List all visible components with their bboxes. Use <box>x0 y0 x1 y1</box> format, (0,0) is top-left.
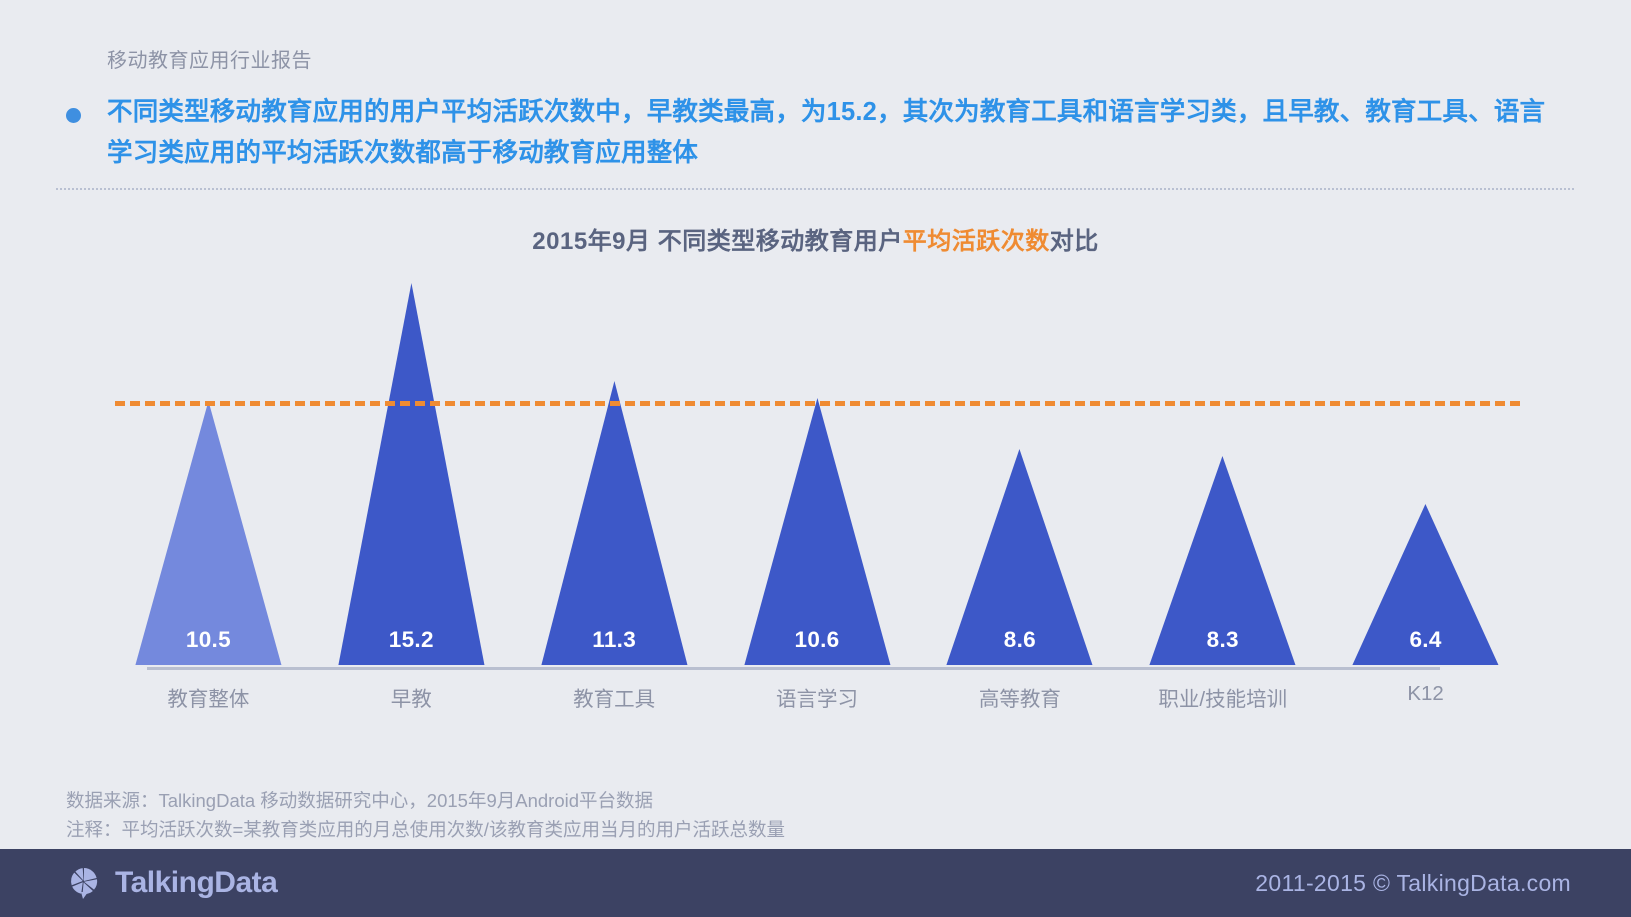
bar-item[interactable]: 8.6 <box>918 250 1121 665</box>
bar-value-label: 8.3 <box>1121 627 1324 653</box>
brand-name: TalkingData <box>115 866 277 900</box>
x-axis-label: 早教 <box>310 682 513 712</box>
headline-block: 不同类型移动教育应用的用户平均活跃次数中，早教类最高，为15.2，其次为教育工具… <box>66 92 1566 175</box>
bar-item[interactable]: 11.3 <box>513 250 716 665</box>
footnotes: 数据来源：TalkingData 移动数据研究中心，2015年9月Android… <box>66 787 785 844</box>
axis-baseline <box>147 667 1440 670</box>
bar-value-label: 8.6 <box>918 627 1121 653</box>
chart-plot-area: 10.515.211.310.68.68.36.4 <box>107 250 1527 670</box>
bar-triangle: 15.2 <box>310 283 513 665</box>
reference-line <box>115 401 1520 406</box>
bar-triangle: 10.6 <box>716 398 919 665</box>
report-kicker: 移动教育应用行业报告 <box>107 44 312 73</box>
headline-text: 不同类型移动教育应用的用户平均活跃次数中，早教类最高，为15.2，其次为教育工具… <box>107 92 1566 175</box>
footer-bar: TalkingData 2011-2015 © TalkingData.com <box>0 849 1631 917</box>
x-axis-label: 教育整体 <box>107 682 310 712</box>
bar-series: 10.515.211.310.68.68.36.4 <box>107 250 1527 665</box>
bar-triangle: 8.6 <box>918 449 1121 665</box>
slide-root: 移动教育应用行业报告 不同类型移动教育应用的用户平均活跃次数中，早教类最高，为1… <box>0 0 1631 917</box>
bar-value-label: 10.5 <box>107 627 310 653</box>
x-axis-label: 职业/技能培训 <box>1121 682 1324 712</box>
x-axis-label: 语言学习 <box>716 682 919 712</box>
source-note: 数据来源：TalkingData 移动数据研究中心，2015年9月Android… <box>66 787 785 816</box>
x-axis-labels: 教育整体早教教育工具语言学习高等教育职业/技能培训K12 <box>107 682 1527 712</box>
header-divider <box>56 188 1574 190</box>
bar-item[interactable]: 10.6 <box>716 250 919 665</box>
bar-triangle: 6.4 <box>1324 504 1527 665</box>
talkingdata-pie-bubble-icon <box>68 866 102 900</box>
bar-item[interactable]: 15.2 <box>310 250 513 665</box>
bar-triangle: 11.3 <box>513 381 716 665</box>
bar-value-label: 10.6 <box>716 627 919 653</box>
bar-item[interactable]: 6.4 <box>1324 250 1527 665</box>
brand-logo: TalkingData <box>68 866 277 900</box>
bar-triangle: 10.5 <box>107 401 310 665</box>
bar-value-label: 6.4 <box>1324 627 1527 653</box>
bar-item[interactable]: 10.5 <box>107 250 310 665</box>
copyright-text: 2011-2015 © TalkingData.com <box>1255 870 1571 897</box>
bar-item[interactable]: 8.3 <box>1121 250 1324 665</box>
bar-triangle: 8.3 <box>1121 456 1324 665</box>
bar-value-label: 15.2 <box>310 627 513 653</box>
x-axis-label: K12 <box>1324 682 1527 712</box>
bullet-dot-icon <box>66 108 81 123</box>
bar-value-label: 11.3 <box>513 627 716 653</box>
definition-note: 注释：平均活跃次数=某教育类应用的月总使用次数/该教育类应用当月的用户活跃总数量 <box>66 816 785 845</box>
x-axis-label: 高等教育 <box>918 682 1121 712</box>
x-axis-label: 教育工具 <box>513 682 716 712</box>
